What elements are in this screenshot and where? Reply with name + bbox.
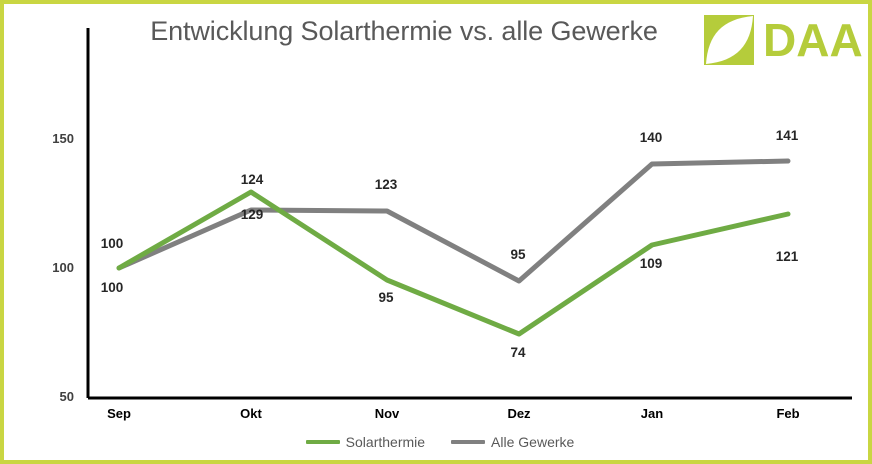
legend-label-solarthermie: Solarthermie — [346, 434, 425, 450]
legend-swatch-solarthermie — [306, 440, 340, 444]
data-label-solarthermie-okt: 124 — [222, 172, 282, 187]
daa-leaf-icon — [704, 15, 754, 65]
data-label-alle-gewerke-sep: 100 — [82, 280, 142, 295]
legend-label-alle-gewerke: Alle Gewerke — [491, 434, 574, 450]
data-label-solarthermie-jan: 109 — [621, 256, 681, 271]
legend-item-alle-gewerke[interactable]: Alle Gewerke — [451, 434, 574, 450]
x-tick-jan: Jan — [617, 406, 687, 421]
daa-logo: DAA — [704, 15, 863, 65]
line-chart-plot — [4, 4, 872, 464]
data-label-solarthermie-dez: 74 — [488, 345, 548, 360]
legend-swatch-alle-gewerke — [451, 440, 485, 444]
x-tick-sep: Sep — [84, 406, 154, 421]
data-label-solarthermie-nov: 95 — [356, 290, 416, 305]
y-tick-100: 100 — [12, 260, 74, 275]
chart-legend: Solarthermie Alle Gewerke — [4, 434, 872, 450]
page-title: Entwicklung Solarthermie vs. alle Gewerk… — [124, 16, 684, 47]
data-label-solarthermie-sep: 100 — [82, 236, 142, 251]
data-label-solarthermie-feb: 121 — [757, 249, 817, 264]
data-label-alle-gewerke-jan: 140 — [621, 130, 681, 145]
data-label-alle-gewerke-dez: 95 — [488, 247, 548, 262]
y-tick-150: 150 — [12, 131, 74, 146]
x-tick-nov: Nov — [352, 406, 422, 421]
data-label-alle-gewerke-feb: 141 — [757, 128, 817, 143]
series-line-alle-gewerke — [119, 161, 788, 281]
chart-card: Entwicklung Solarthermie vs. alle Gewerk… — [0, 0, 872, 464]
data-label-alle-gewerke-nov: 123 — [356, 177, 416, 192]
x-tick-dez: Dez — [484, 406, 554, 421]
data-label-alle-gewerke-okt: 129 — [222, 207, 282, 222]
legend-item-solarthermie[interactable]: Solarthermie — [306, 434, 425, 450]
y-tick-50: 50 — [12, 389, 74, 404]
x-tick-okt: Okt — [216, 406, 286, 421]
series-line-solarthermie — [119, 192, 788, 334]
x-tick-feb: Feb — [753, 406, 823, 421]
daa-wordmark: DAA — [763, 17, 863, 63]
